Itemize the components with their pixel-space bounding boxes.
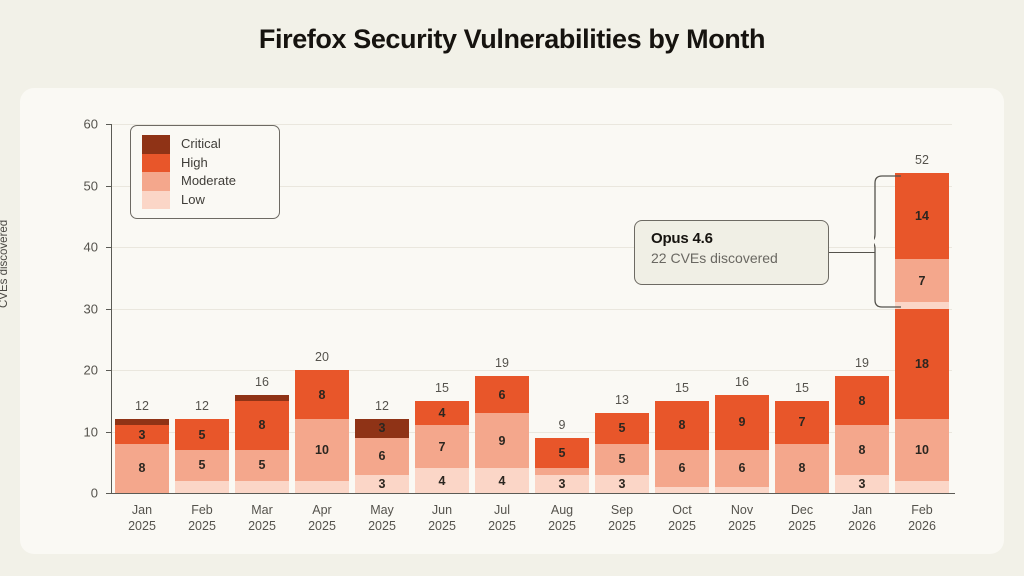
bar-segment[interactable]: 8 [295, 370, 349, 419]
stacked-bar[interactable]: 363 [355, 419, 409, 493]
stacked-bar[interactable]: 55 [175, 419, 229, 493]
bar-segment[interactable]: 7 [895, 259, 949, 302]
bar-total-label: 20 [295, 350, 349, 364]
bar-group[interactable]: 47415 [415, 124, 469, 493]
legend-swatch [142, 154, 170, 173]
x-axis-line [110, 493, 955, 494]
stacked-bar[interactable]: 553 [595, 413, 649, 493]
legend-swatch [142, 172, 170, 191]
bar-segment-value: 8 [859, 394, 866, 408]
bar-segment[interactable]: 4 [475, 468, 529, 493]
bar-segment[interactable]: 6 [715, 450, 769, 487]
bar-segment[interactable]: 18 [895, 309, 949, 420]
bar-segment-value: 6 [679, 461, 686, 475]
bar-total-label: 13 [595, 393, 649, 407]
bar-segment[interactable]: 3 [835, 475, 889, 493]
bar-segment[interactable]: 5 [595, 413, 649, 444]
bar-segment-value: 4 [439, 406, 446, 420]
bar-segment[interactable]: 5 [535, 438, 589, 469]
bar-segment[interactable]: 8 [235, 401, 289, 450]
bar-segment-value: 6 [379, 449, 386, 463]
bar-group[interactable]: 7815 [775, 124, 829, 493]
bar-segment-value: 9 [499, 434, 506, 448]
legend-item-label[interactable]: High [181, 154, 236, 173]
stacked-bar[interactable]: 883 [835, 376, 889, 493]
bar-segment-value: 8 [259, 418, 266, 432]
bracket-icon [874, 175, 902, 308]
bar-segment-value: 3 [859, 477, 866, 491]
stacked-bar[interactable]: 810 [295, 370, 349, 493]
bar-group[interactable]: 81020 [295, 124, 349, 493]
y-tick-label: 60 [58, 117, 98, 132]
stacked-bar[interactable]: 85 [235, 395, 289, 493]
bar-segment[interactable]: 9 [475, 413, 529, 468]
page-title: Firefox Security Vulnerabilities by Mont… [0, 24, 1024, 55]
y-tick-label: 20 [58, 363, 98, 378]
bar-segment[interactable] [175, 481, 229, 493]
bar-segment[interactable]: 8 [115, 444, 169, 493]
stacked-bar[interactable]: 694 [475, 376, 529, 493]
bar-segment[interactable]: 7 [415, 425, 469, 468]
bar-segment[interactable]: 6 [475, 376, 529, 413]
legend-item-label[interactable]: Low [181, 191, 236, 210]
bar-segment-value: 6 [499, 388, 506, 402]
bar-segment-value: 4 [439, 474, 446, 488]
bar-group[interactable]: 539 [535, 124, 589, 493]
bar-segment-value: 3 [619, 477, 626, 491]
bar-total-label: 9 [535, 418, 589, 432]
bar-segment[interactable]: 3 [355, 475, 409, 493]
stacked-bar[interactable]: 53 [535, 438, 589, 493]
stacked-bar[interactable]: 1471810 [895, 173, 949, 493]
bar-segment-value: 18 [915, 357, 929, 371]
bar-group[interactable]: 69419 [475, 124, 529, 493]
bar-segment-value: 5 [619, 452, 626, 466]
bar-segment-value: 3 [139, 428, 146, 442]
x-tick-month: Feb [882, 502, 962, 518]
stacked-bar[interactable]: 86 [655, 401, 709, 493]
x-tick-label: Feb2026 [882, 502, 962, 534]
bar-segment-value: 5 [199, 428, 206, 442]
stacked-bar[interactable]: 78 [775, 401, 829, 493]
bar-total-label: 12 [115, 399, 169, 413]
bar-segment-value: 5 [619, 421, 626, 435]
bar-segment[interactable] [895, 481, 949, 493]
bar-total-label: 16 [235, 375, 289, 389]
bar-segment[interactable]: 3 [535, 475, 589, 493]
bar-total-label: 52 [895, 153, 949, 167]
bar-segment[interactable]: 4 [415, 468, 469, 493]
bar-segment[interactable]: 9 [715, 395, 769, 450]
bar-segment-value: 14 [915, 209, 929, 223]
bar-segment-value: 8 [799, 461, 806, 475]
bar-total-label: 19 [475, 356, 529, 370]
bar-segment-value: 8 [679, 418, 686, 432]
annotation-connector-line [828, 252, 875, 253]
bar-segment-value: 6 [739, 461, 746, 475]
bar-total-label: 12 [175, 399, 229, 413]
bar-segment[interactable]: 14 [895, 173, 949, 259]
bar-segment[interactable]: 10 [895, 419, 949, 481]
chart-page: Firefox Security Vulnerabilities by Mont… [0, 0, 1024, 576]
y-axis-label: CVEs discovered [0, 220, 10, 308]
bar-total-label: 12 [355, 399, 409, 413]
bar-segment-value: 5 [559, 446, 566, 460]
legend-swatches [142, 135, 170, 209]
bar-segment-value: 5 [199, 458, 206, 472]
bar-segment[interactable]: 3 [355, 419, 409, 437]
bar-segment-value: 4 [499, 474, 506, 488]
bar-group[interactable]: 147181052 [895, 124, 949, 493]
bar-group[interactable]: 9616 [715, 124, 769, 493]
bar-segment[interactable]: 5 [175, 450, 229, 481]
y-tick-label: 10 [58, 424, 98, 439]
annotation-callout[interactable]: Opus 4.6 22 CVEs discovered [634, 220, 829, 285]
y-tick-label: 0 [58, 486, 98, 501]
bar-segment-value: 3 [379, 477, 386, 491]
bar-segment[interactable]: 8 [835, 376, 889, 425]
legend-labels: CriticalHighModerateLow [181, 135, 236, 209]
bar-total-label: 19 [835, 356, 889, 370]
bar-segment[interactable]: 6 [655, 450, 709, 487]
legend: CriticalHighModerateLow [130, 125, 280, 219]
bar-segment[interactable]: 10 [295, 419, 349, 481]
bar-segment-value: 5 [259, 458, 266, 472]
bar-segment[interactable]: 3 [595, 475, 649, 493]
bar-segment[interactable]: 5 [235, 450, 289, 481]
legend-item-label[interactable]: Critical [181, 135, 236, 154]
x-tick-year: 2026 [882, 518, 962, 534]
bar-total-label: 16 [715, 375, 769, 389]
bar-segment-value: 3 [559, 477, 566, 491]
bar-segment[interactable]: 8 [775, 444, 829, 493]
stacked-bar[interactable]: 96 [715, 395, 769, 493]
annotation-title: Opus 4.6 [651, 230, 828, 247]
bar-segment[interactable]: 7 [775, 401, 829, 444]
bar-group[interactable]: 36312 [355, 124, 409, 493]
bar-segment[interactable]: 3 [115, 425, 169, 443]
bar-segment-value: 7 [799, 415, 806, 429]
y-tick-label: 30 [58, 301, 98, 316]
bar-segment[interactable]: 8 [655, 401, 709, 450]
bar-segment-value: 8 [319, 388, 326, 402]
bar-segment[interactable] [235, 481, 289, 493]
bar-segment[interactable]: 5 [175, 419, 229, 450]
bar-segment-value: 10 [315, 443, 329, 457]
bar-total-label: 15 [415, 381, 469, 395]
bar-segment-value: 8 [859, 443, 866, 457]
bar-group[interactable]: 8615 [655, 124, 709, 493]
bar-segment-value: 10 [915, 443, 929, 457]
bar-segment-value: 9 [739, 415, 746, 429]
bar-total-label: 15 [655, 381, 709, 395]
y-tick-label: 50 [58, 178, 98, 193]
bar-segment-value: 3 [379, 421, 386, 435]
legend-item-label[interactable]: Moderate [181, 172, 236, 191]
bar-segment-value: 8 [139, 461, 146, 475]
bar-segment[interactable] [715, 487, 769, 493]
legend-swatch [142, 191, 170, 210]
bar-segment-value: 7 [439, 440, 446, 454]
stacked-bar[interactable]: 38 [115, 419, 169, 493]
bar-segment-value: 7 [919, 274, 926, 288]
stacked-bar[interactable]: 474 [415, 401, 469, 493]
bar-segment[interactable]: 4 [415, 401, 469, 426]
bar-segment[interactable] [655, 487, 709, 493]
bar-group[interactable]: 55313 [595, 124, 649, 493]
bar-segment[interactable]: 8 [835, 425, 889, 474]
annotation-subtitle: 22 CVEs discovered [651, 250, 828, 266]
y-tick-label: 40 [58, 240, 98, 255]
legend-swatch [142, 135, 170, 154]
bar-segment[interactable]: 6 [355, 438, 409, 475]
bar-segment[interactable]: 5 [595, 444, 649, 475]
bar-total-label: 15 [775, 381, 829, 395]
bar-segment[interactable] [295, 481, 349, 493]
